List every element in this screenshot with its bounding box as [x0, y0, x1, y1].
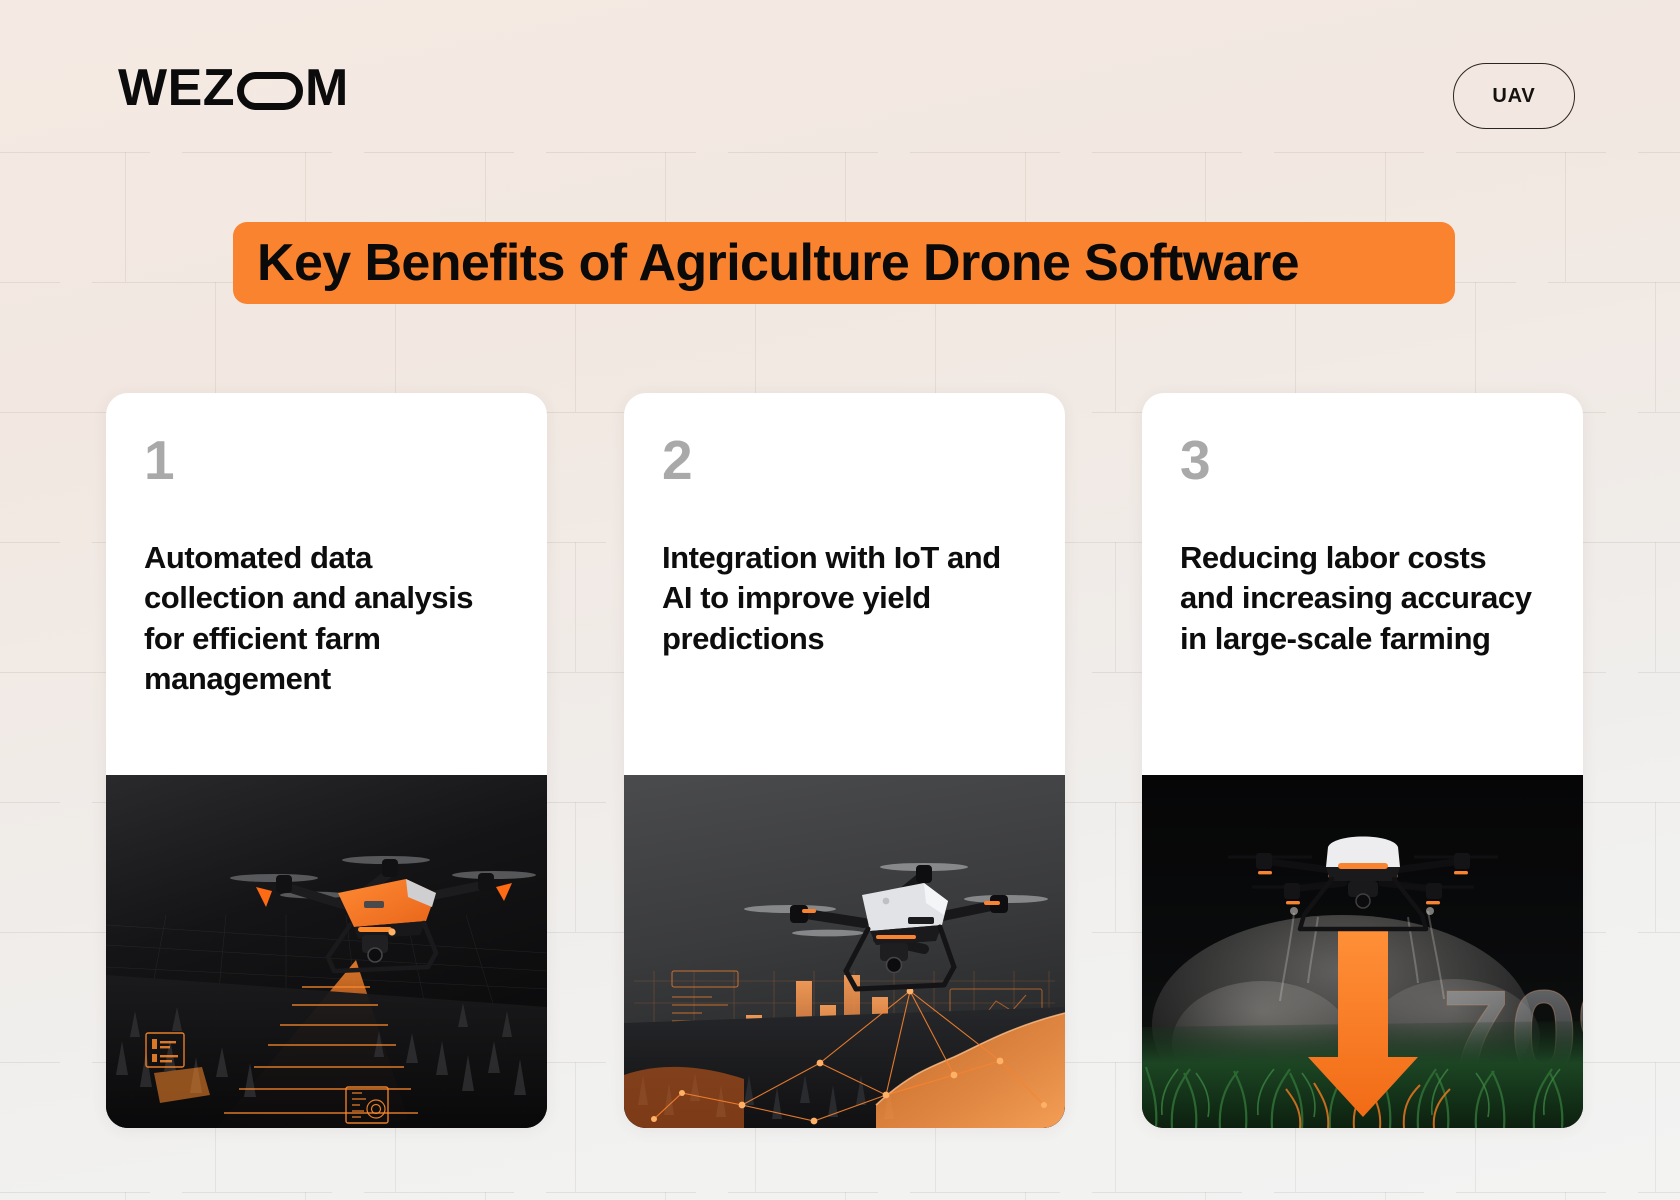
background-vtick	[1655, 1062, 1656, 1192]
drone-iot-ai-analytics-image	[624, 775, 1065, 1128]
card-1-title: Automated data collection and analysis f…	[144, 538, 509, 699]
uav-badge[interactable]: UAV	[1453, 63, 1575, 129]
wezom-logo[interactable]: WEZ M	[118, 62, 349, 114]
card-2-number: 2	[662, 433, 1027, 488]
background-vtick	[485, 1192, 486, 1200]
card-3-title: Reducing labor costs and increasing accu…	[1180, 538, 1545, 659]
logo-o-stadium-icon	[237, 72, 303, 110]
benefit-card-2[interactable]: 2 Integration with IoT and AI to improve…	[624, 393, 1065, 1128]
card-2-body: 2 Integration with IoT and AI to improve…	[624, 393, 1065, 775]
page-title: Key Benefits of Agriculture Drone Softwa…	[233, 233, 1299, 293]
background-vtick	[125, 152, 126, 282]
logo-text-part1: WEZ	[118, 62, 235, 114]
card-2-title: Integration with IoT and AI to improve y…	[662, 538, 1027, 659]
card-1-number: 1	[144, 433, 509, 488]
background-vtick	[1655, 542, 1656, 672]
benefit-card-3[interactable]: 3 Reducing labor costs and increasing ac…	[1142, 393, 1583, 1128]
background-vtick	[1655, 802, 1656, 932]
benefit-cards-list: 1 Automated data collection and analysis…	[106, 393, 1584, 1128]
title-banner: Key Benefits of Agriculture Drone Softwa…	[233, 222, 1455, 304]
uav-badge-label: UAV	[1492, 85, 1535, 108]
page-header: WEZ M UAV	[0, 0, 1680, 170]
background-vtick	[125, 1192, 126, 1200]
background-hline	[0, 1192, 1680, 1193]
background-vtick	[1565, 1192, 1566, 1200]
background-vtick	[1205, 1192, 1206, 1200]
card-1-body: 1 Automated data collection and analysis…	[106, 393, 547, 775]
card-3-body: 3 Reducing labor costs and increasing ac…	[1142, 393, 1583, 775]
background-vtick	[1565, 152, 1566, 282]
background-vtick	[1025, 1192, 1026, 1200]
drone-scanning-crop-field-image	[106, 775, 547, 1128]
benefit-card-1[interactable]: 1 Automated data collection and analysis…	[106, 393, 547, 1128]
background-vtick	[665, 1192, 666, 1200]
logo-text-part2: M	[305, 62, 349, 114]
background-vtick	[845, 1192, 846, 1200]
card-3-number: 3	[1180, 433, 1545, 488]
background-vtick	[305, 1192, 306, 1200]
spraying-drone-reduction-image: 70%	[1142, 775, 1583, 1128]
background-vtick	[1385, 1192, 1386, 1200]
background-vtick	[1655, 282, 1656, 412]
